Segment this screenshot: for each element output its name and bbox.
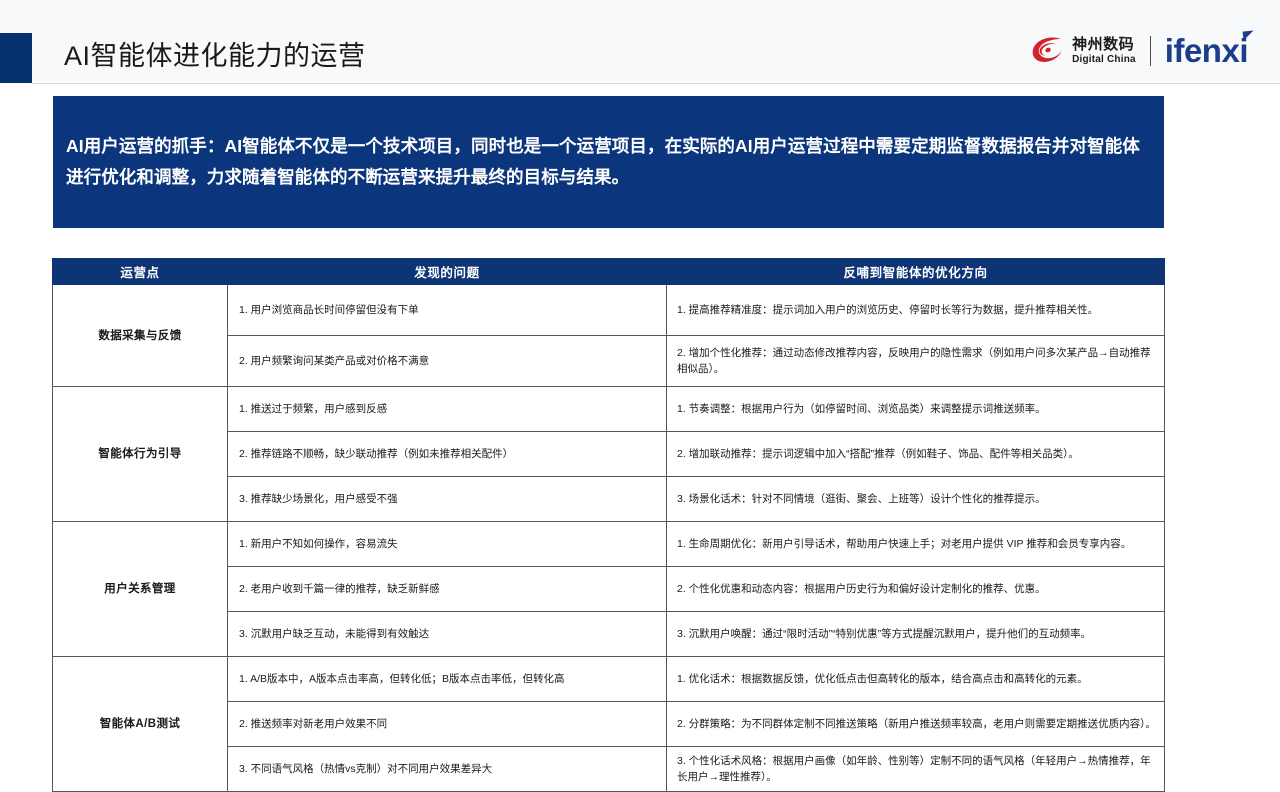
table-row: 智能体A/B测试1. A/B版本中，A版本点击率高，但转化低；B版本点击率低，但…: [53, 657, 1165, 702]
table-header-row: 运营点 发现的问题 反哺到智能体的优化方向: [53, 259, 1165, 285]
problem-cell: 1. 用户浏览商品长时间停留但没有下单: [228, 285, 667, 336]
problem-cell: 3. 推荐缺少场景化，用户感受不强: [228, 477, 667, 522]
problem-cell: 2. 老用户收到千篇一律的推荐，缺乏新鲜感: [228, 567, 667, 612]
problem-cell: 1. A/B版本中，A版本点击率高，但转化低；B版本点击率低，但转化高: [228, 657, 667, 702]
operation-point-cell: 智能体A/B测试: [53, 657, 228, 792]
optimization-action-cell: 1. 提高推荐精准度：提示词加入用户的浏览历史、停留时长等行为数据，提升推荐相关…: [667, 285, 1165, 336]
digital-china-wordmark: 神州数码 Digital China: [1072, 37, 1136, 65]
problem-cell: 3. 不同语气风格（热情vs克制）对不同用户效果差异大: [228, 747, 667, 792]
column-header-problem: 发现的问题: [228, 259, 667, 285]
problem-cell: 2. 推荐链路不顺畅，缺少联动推荐（例如未推荐相关配件）: [228, 432, 667, 477]
problem-cell: 2. 用户频繁询问某类产品或对价格不满意: [228, 336, 667, 387]
problem-cell: 1. 推送过于频繁，用户感到反感: [228, 387, 667, 432]
table-row: 用户关系管理1. 新用户不知如何操作，容易流失1. 生命周期优化：新用户引导话术…: [53, 522, 1165, 567]
callout-banner: AI用户运营的抓手：AI智能体不仅是一个技术项目，同时也是一个运营项目，在实际的…: [53, 96, 1164, 228]
header-accent-bar: [0, 33, 32, 83]
column-header-action: 反哺到智能体的优化方向: [667, 259, 1165, 285]
digital-china-name-en: Digital China: [1072, 55, 1136, 65]
operation-point-cell: 智能体行为引导: [53, 387, 228, 522]
problem-cell: 2. 推送频率对新老用户效果不同: [228, 702, 667, 747]
header-divider: [32, 83, 1280, 84]
slide-header: AI智能体进化能力的运营 神州数码 Digital China ifenxi: [0, 0, 1280, 84]
optimization-action-cell: 1. 优化话术：根据数据反馈，优化低点击但高转化的版本，结合高点击和高转化的元素…: [667, 657, 1165, 702]
column-header-point: 运营点: [53, 259, 228, 285]
optimization-action-cell: 3. 个性化话术风格：根据用户画像（如年龄、性别等）定制不同的语气风格（年轻用户…: [667, 747, 1165, 792]
operation-point-cell: 数据采集与反馈: [53, 285, 228, 387]
optimization-action-cell: 1. 节奏调整：根据用户行为（如停留时间、浏览品类）来调整提示词推送频率。: [667, 387, 1165, 432]
logo-group: 神州数码 Digital China ifenxi: [1031, 28, 1252, 74]
operation-point-cell: 用户关系管理: [53, 522, 228, 657]
logo-separator: [1150, 36, 1151, 66]
problem-cell: 3. 沉默用户缺乏互动，未能得到有效触达: [228, 612, 667, 657]
page-title: AI智能体进化能力的运营: [64, 36, 366, 76]
callout-text: AI用户运营的抓手：AI智能体不仅是一个技术项目，同时也是一个运营项目，在实际的…: [53, 131, 1164, 193]
digital-china-name-cn: 神州数码: [1072, 37, 1136, 52]
ifenxi-wordmark: ifenxi: [1165, 32, 1248, 69]
ifenxi-logo: ifenxi: [1165, 34, 1252, 68]
optimization-action-cell: 3. 场景化话术：针对不同情境（逛街、聚会、上班等）设计个性化的推荐提示。: [667, 477, 1165, 522]
table-row: 数据采集与反馈1. 用户浏览商品长时间停留但没有下单1. 提高推荐精准度：提示词…: [53, 285, 1165, 336]
optimization-action-cell: 2. 增加联动推荐：提示词逻辑中加入“搭配”推荐（例如鞋子、饰品、配件等相关品类…: [667, 432, 1165, 477]
problem-cell: 1. 新用户不知如何操作，容易流失: [228, 522, 667, 567]
optimization-action-cell: 2. 分群策略：为不同群体定制不同推送策略（新用户推送频率较高，老用户则需要定期…: [667, 702, 1165, 747]
operations-matrix-table: 运营点 发现的问题 反哺到智能体的优化方向 数据采集与反馈1. 用户浏览商品长时…: [52, 258, 1165, 792]
table-header: 运营点 发现的问题 反哺到智能体的优化方向: [53, 259, 1165, 285]
optimization-action-cell: 2. 个性化优惠和动态内容：根据用户历史行为和偏好设计定制化的推荐、优惠。: [667, 567, 1165, 612]
ifenxi-flag-icon: [1243, 30, 1255, 40]
swoosh-icon: [1031, 36, 1065, 66]
optimization-action-cell: 1. 生命周期优化：新用户引导话术，帮助用户快速上手；对老用户提供 VIP 推荐…: [667, 522, 1165, 567]
optimization-action-cell: 2. 增加个性化推荐：通过动态修改推荐内容，反映用户的隐性需求（例如用户问多次某…: [667, 336, 1165, 387]
digital-china-logo: 神州数码 Digital China: [1031, 36, 1136, 66]
optimization-action-cell: 3. 沉默用户唤醒：通过“限时活动”“特别优惠”等方式提醒沉默用户，提升他们的互…: [667, 612, 1165, 657]
table-row: 智能体行为引导1. 推送过于频繁，用户感到反感1. 节奏调整：根据用户行为（如停…: [53, 387, 1165, 432]
table-body: 数据采集与反馈1. 用户浏览商品长时间停留但没有下单1. 提高推荐精准度：提示词…: [53, 285, 1165, 792]
